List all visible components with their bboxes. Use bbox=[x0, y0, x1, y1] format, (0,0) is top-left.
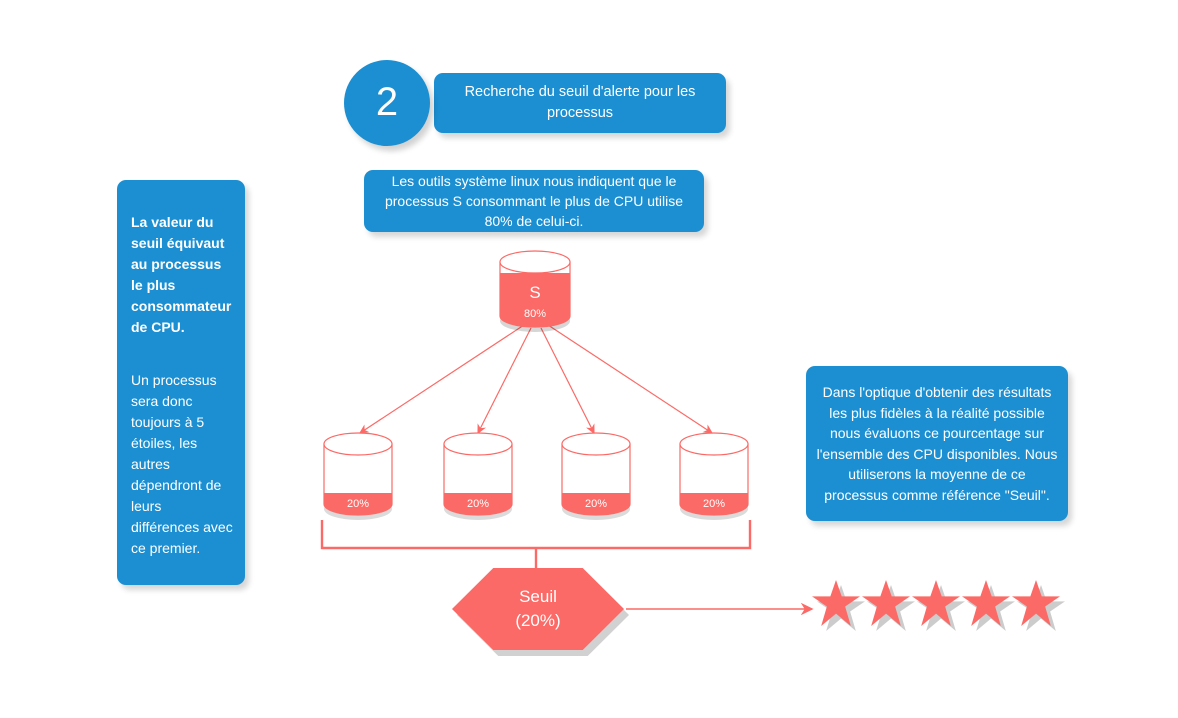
step-title-box: Recherche du seuil d'alerte pour les pro… bbox=[434, 73, 726, 133]
left-note-normal-text: Un processus sera donc toujours à 5 étoi… bbox=[131, 370, 233, 559]
left-note-bold-text: La valeur du seuil équivaut au processus… bbox=[131, 212, 233, 338]
left-note-callout: La valeur du seuil équivaut au processus… bbox=[117, 180, 245, 585]
cpu-cylinder-graphic bbox=[560, 433, 632, 517]
right-note-callout: Dans l'optique d'obtenir des résultats l… bbox=[806, 366, 1068, 521]
diagram-canvas: 2 Recherche du seuil d'alerte pour les p… bbox=[0, 0, 1178, 718]
star-rating bbox=[812, 575, 1062, 631]
cpu-cylinder-graphic bbox=[678, 433, 750, 517]
cpu-cylinder-graphic bbox=[442, 433, 514, 517]
cpu-cylinder-4: 20% bbox=[678, 433, 750, 517]
star-icon bbox=[1012, 580, 1060, 626]
source-cylinder-graphic bbox=[498, 251, 572, 327]
step-number-badge: 2 bbox=[344, 60, 430, 146]
star-icon bbox=[862, 580, 910, 626]
hexagon-text: Seuil (20%) bbox=[452, 568, 624, 650]
threshold-value: (20%) bbox=[515, 609, 560, 633]
star-icon bbox=[962, 580, 1010, 626]
linux-tools-text: Les outils système linux nous indiquent … bbox=[374, 171, 694, 231]
star-icon bbox=[912, 580, 960, 626]
cpu-cylinder-2: 20% bbox=[442, 433, 514, 517]
cpu-cylinder-1: 20% bbox=[322, 433, 394, 517]
threshold-hexagon: Seuil (20%) bbox=[452, 568, 624, 650]
threshold-label: Seuil bbox=[519, 585, 557, 609]
source-cylinder-s: S 80% bbox=[498, 251, 572, 327]
step-number: 2 bbox=[376, 82, 398, 125]
star-icon bbox=[812, 580, 860, 626]
cpu-cylinder-graphic bbox=[322, 433, 394, 517]
step-title-text: Recherche du seuil d'alerte pour les pro… bbox=[448, 82, 712, 124]
cpu-cylinder-3: 20% bbox=[560, 433, 632, 517]
linux-tools-callout: Les outils système linux nous indiquent … bbox=[364, 170, 704, 232]
fanout-arrows bbox=[360, 325, 712, 433]
right-note-text: Dans l'optique d'obtenir des résultats l… bbox=[816, 382, 1058, 505]
merge-bracket bbox=[322, 520, 750, 570]
